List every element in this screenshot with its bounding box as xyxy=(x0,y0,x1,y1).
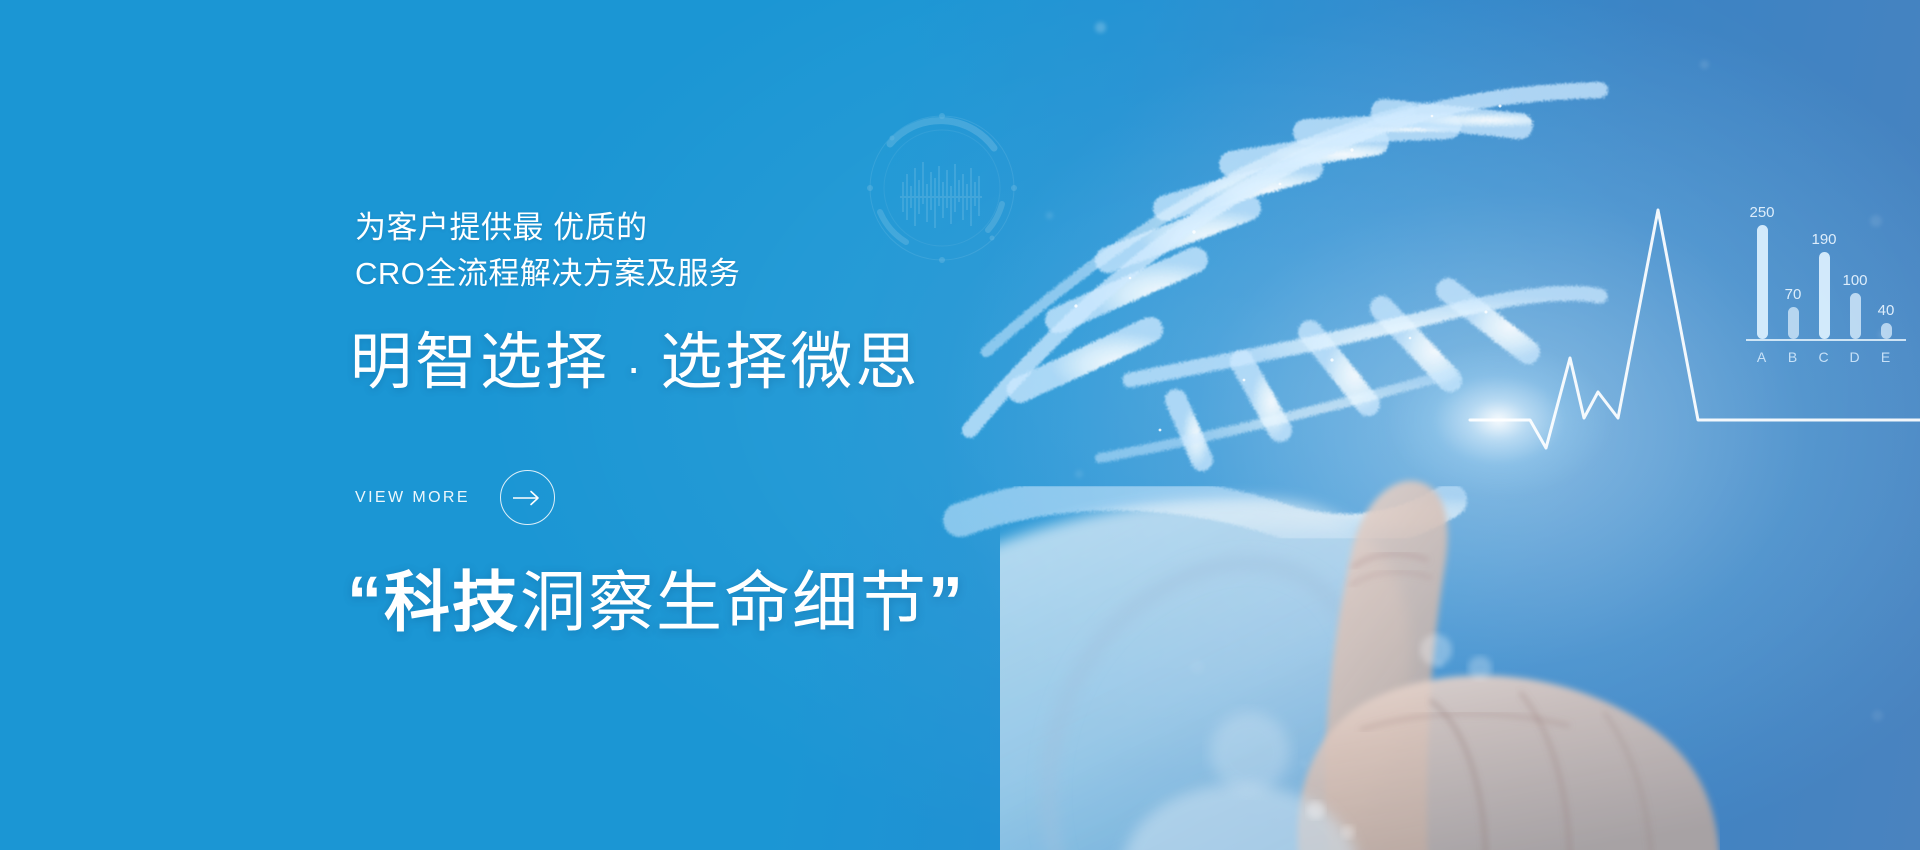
quote-strong-text: 科技 xyxy=(384,565,520,639)
quote-close-mark: ” xyxy=(928,562,965,640)
hero-banner: 250 70 190 100 40 A B C D E 为客户提供最 优质的 C… xyxy=(0,0,1920,850)
hero-quote: “科技洞察生命细节” xyxy=(347,555,965,648)
bar-category-label: E xyxy=(1881,349,1891,365)
hero-copy: 为客户提供最 优质的 CRO全流程解决方案及服务 明智选择·选择微思 VIEW … xyxy=(355,0,1255,850)
hero-subtitle-line-1: 为客户提供最 优质的 xyxy=(355,205,648,250)
arrow-right-icon[interactable] xyxy=(500,470,555,525)
hero-subtitle-line-2: CRO全流程解决方案及服务 xyxy=(355,251,740,296)
quote-open-mark: “ xyxy=(347,562,384,640)
bokeh-dot xyxy=(1700,60,1709,69)
bar-chart-overlay: 250 70 190 100 40 A B C D E xyxy=(1740,192,1910,377)
view-more-label: VIEW MORE xyxy=(355,489,470,507)
view-more-button[interactable]: VIEW MORE xyxy=(355,470,555,525)
headline-separator: · xyxy=(610,341,660,393)
bar-category-label: D xyxy=(1849,349,1860,365)
bar-value-label: 40 xyxy=(1878,302,1895,319)
bar-category-label: B xyxy=(1788,349,1798,365)
bar-value-label: 250 xyxy=(1749,204,1774,221)
bar-value-label: 70 xyxy=(1785,286,1802,303)
quote-light-text: 洞察生命细节 xyxy=(520,565,928,639)
hero-headline: 明智选择·选择微思 xyxy=(350,327,920,403)
bar-category-label: C xyxy=(1818,349,1829,365)
bar-category-label: A xyxy=(1757,349,1767,365)
bokeh-dot xyxy=(1872,710,1883,721)
headline-right-text: 选择微思 xyxy=(660,328,920,397)
bar-value-label: 100 xyxy=(1842,272,1867,289)
headline-left-text: 明智选择 xyxy=(350,328,610,397)
bar-value-label: 190 xyxy=(1811,231,1836,248)
